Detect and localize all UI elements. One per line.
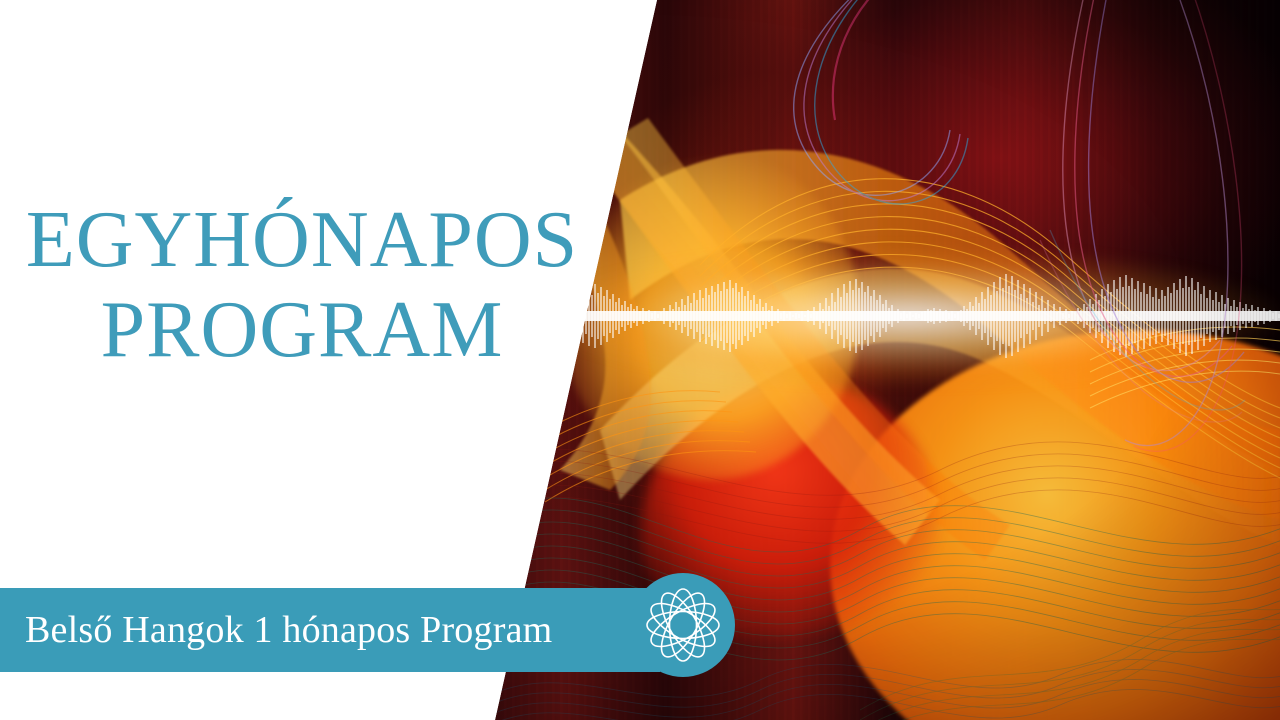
subtitle-banner: Belső Hangok 1 hónapos Program <box>0 588 660 672</box>
flower-of-life-logo <box>631 573 735 677</box>
subtitle-banner-text: Belső Hangok 1 hónapos Program <box>0 611 552 649</box>
slide-canvas: EGYHÓNAPOS PROGRAM Belső Hangok 1 hónapo… <box>0 0 1280 720</box>
page-title: EGYHÓNAPOS PROGRAM <box>0 196 604 375</box>
